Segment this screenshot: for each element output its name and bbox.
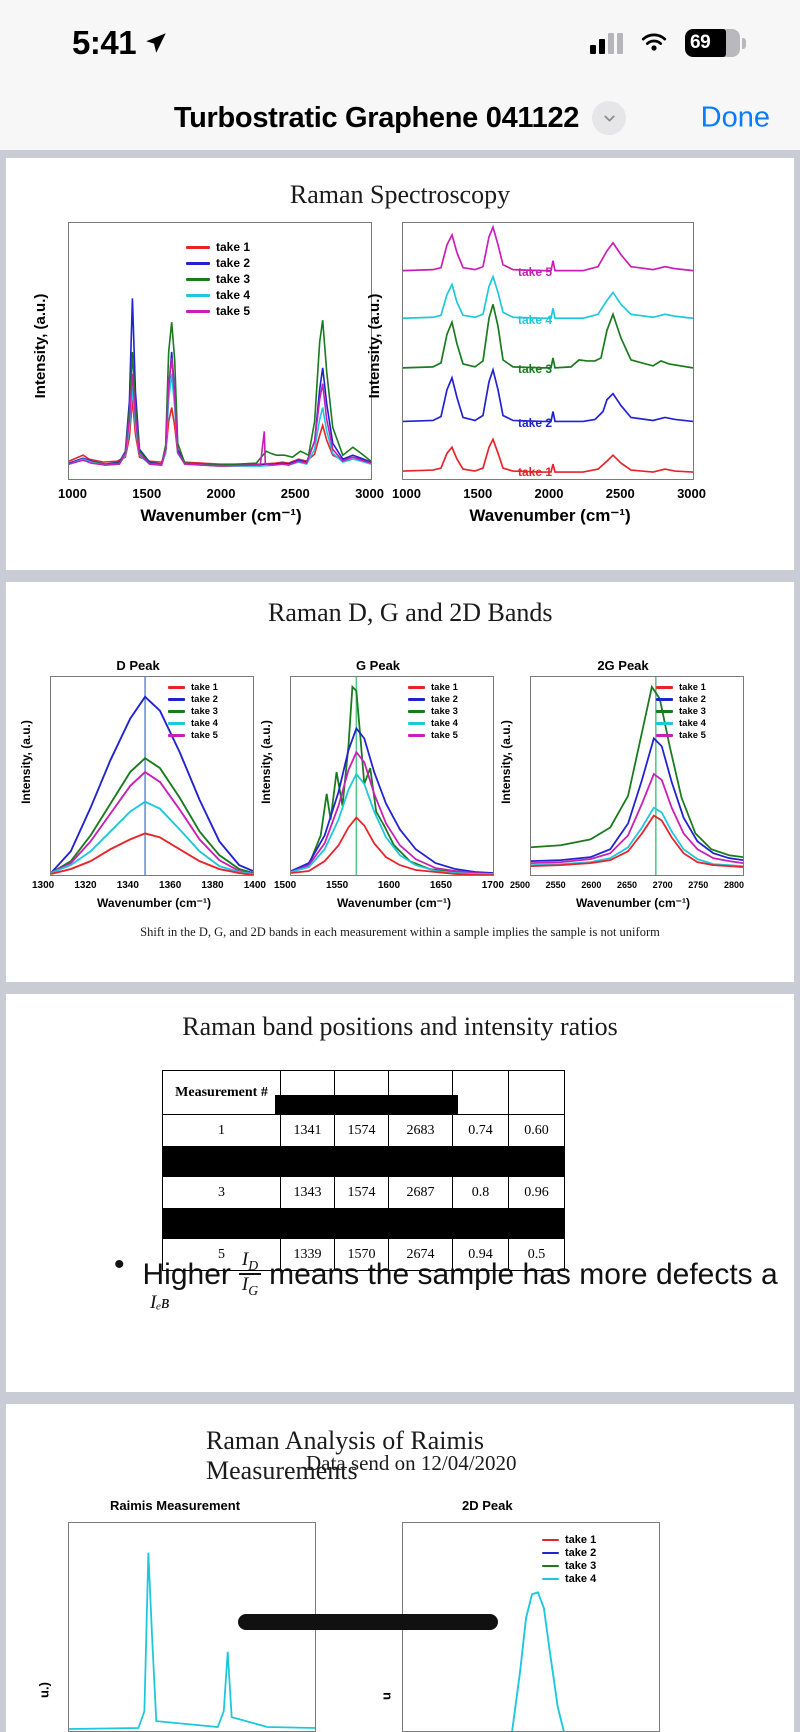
chart-xticks: 2500 2550 2600 2650 2700 2750 2800 xyxy=(510,880,744,890)
chart-ylabel: u.) xyxy=(36,1682,51,1698)
legend-label: take 3 xyxy=(191,706,218,717)
xtick: 2650 xyxy=(617,880,637,890)
wifi-icon xyxy=(639,32,669,54)
legend-item: take 3 xyxy=(186,272,250,286)
legend-label: take 2 xyxy=(431,694,458,705)
plot-area xyxy=(530,676,744,876)
legend-label: take 4 xyxy=(679,718,706,729)
chart-title: 2D Peak xyxy=(462,1498,513,1513)
legend-item: take 2 xyxy=(408,694,458,705)
legend-label: take 1 xyxy=(565,1534,596,1546)
xtick: 2500 xyxy=(606,486,635,501)
legend-label: take 4 xyxy=(431,718,458,729)
bullet-prefix: Higher xyxy=(143,1258,231,1291)
legend-swatch-take1 xyxy=(408,686,425,688)
chart-ylabel: Intensity, (a.u.) xyxy=(499,720,513,804)
legend-label: take 3 xyxy=(216,272,250,286)
legend-item: take 3 xyxy=(542,1560,596,1572)
cell-id-ig: 0.74 xyxy=(453,1115,509,1147)
legend-item: take 1 xyxy=(542,1534,596,1546)
status-bar: 5:41 69 xyxy=(0,0,800,86)
chart-ylabel: Intensity, (a.u.) xyxy=(366,294,383,399)
legend-swatch-take5 xyxy=(408,734,425,736)
col-id-ig xyxy=(453,1071,509,1115)
legend-item: take 2 xyxy=(186,256,250,270)
xtick: 2000 xyxy=(207,486,236,501)
xtick: 1300 xyxy=(32,880,54,891)
chart-xlabel: Wavenumber (cm⁻¹) xyxy=(34,896,274,910)
xtick: 1380 xyxy=(201,880,223,891)
bullet-dot-icon: • xyxy=(114,1250,125,1280)
legend-swatch-take2 xyxy=(656,698,673,700)
document-title: Turbostratic Graphene 041122 xyxy=(174,102,579,135)
nav-title-group[interactable]: Turbostratic Graphene 041122 xyxy=(174,101,626,135)
legend-label: take 2 xyxy=(216,256,250,270)
bullet-clipped-fraction: Iₑʙ xyxy=(150,1292,169,1314)
xtick: 1500 xyxy=(463,486,492,501)
col-2d-band xyxy=(389,1071,453,1115)
legend-swatch-take4 xyxy=(542,1578,559,1580)
fraction-denominator: IG xyxy=(239,1273,261,1298)
table-row[interactable]: 3 1343 1574 2687 0.8 0.96 xyxy=(163,1177,565,1209)
xtick: 2000 xyxy=(535,486,564,501)
chart-ylabel: Intensity, (a.u.) xyxy=(32,294,49,399)
slide4-subtitle: Data send on 12/04/2020 xyxy=(306,1451,517,1476)
legend-label: take 3 xyxy=(431,706,458,717)
fraction-numerator: ID xyxy=(239,1250,261,1273)
col-g-band xyxy=(335,1071,389,1115)
xtick: 1000 xyxy=(58,486,87,501)
xtick: 1360 xyxy=(159,880,181,891)
table-row-redacted[interactable] xyxy=(163,1147,565,1177)
redaction-bar xyxy=(238,1614,498,1630)
chart-xticks: 1500 1550 1600 1650 1700 xyxy=(274,880,504,891)
legend-item: take 5 xyxy=(186,304,250,318)
document-scroll-area[interactable]: Raman Spectroscopy Intensity, (a.u.) xyxy=(0,150,800,1732)
legend-swatch-take3 xyxy=(542,1565,559,1567)
spectrum-label-take5: take 5 xyxy=(518,265,552,279)
legend-swatch-take1 xyxy=(186,246,210,249)
plot-area xyxy=(50,676,254,876)
status-indicators: 69 xyxy=(590,29,746,57)
status-time: 5:41 xyxy=(72,24,136,62)
legend-label: take 2 xyxy=(679,694,706,705)
table-body: 1 1341 1574 2683 0.74 0.60 3 1343 1574 xyxy=(163,1115,565,1271)
legend-swatch-take4 xyxy=(168,722,185,724)
ratio-fraction: ID IG xyxy=(239,1250,261,1298)
chart-raman-overlay[interactable]: Intensity, (a.u.) take 1 xyxy=(26,218,376,518)
chart-2g-peak[interactable]: 2G Peak Intensity, (a.u.) xyxy=(498,662,748,912)
slide-dg2d-bands[interactable]: Raman D, G and 2D Bands D Peak Intensity… xyxy=(6,582,794,982)
legend-item: take 3 xyxy=(408,706,458,717)
legend-item: take 4 xyxy=(656,718,706,729)
battery-icon: 69 xyxy=(685,29,746,57)
chart-title: Raimis Measurement xyxy=(110,1498,240,1513)
done-button[interactable]: Done xyxy=(701,102,770,135)
legend-swatch-take2 xyxy=(408,698,425,700)
phone-screen: 5:41 69 Turbost xyxy=(0,0,800,1732)
legend-item: take 5 xyxy=(408,730,458,741)
spectrum-label-take4: take 4 xyxy=(518,313,552,327)
xtick: 1600 xyxy=(378,880,400,891)
status-time-group: 5:41 xyxy=(72,24,169,62)
legend-swatch-take2 xyxy=(542,1552,559,1554)
xtick: 2500 xyxy=(281,486,310,501)
cell-2d: 2683 xyxy=(389,1115,453,1147)
cell-i2d-ig: 0.60 xyxy=(509,1115,565,1147)
legend-swatch-take1 xyxy=(542,1539,559,1541)
legend-label: take 5 xyxy=(679,730,706,741)
legend-item: take 1 xyxy=(168,682,218,693)
legend-label: take 3 xyxy=(565,1560,596,1572)
legend-item: take 1 xyxy=(186,240,250,254)
spectrum-label-take2: take 2 xyxy=(518,416,552,430)
cell-measurement: 1 xyxy=(163,1115,281,1147)
legend-item: take 3 xyxy=(168,706,218,717)
xtick: 1500 xyxy=(274,880,296,891)
cell-d: 1341 xyxy=(281,1115,335,1147)
xtick: 1650 xyxy=(430,880,452,891)
chart-title: G Peak xyxy=(258,658,498,673)
table-row-redacted[interactable] xyxy=(163,1209,565,1239)
chart-xlabel: Wavenumber (cm⁻¹) xyxy=(508,896,758,910)
chart-raman-stacked[interactable]: Intensity, (a.u.) xyxy=(358,218,698,518)
legend-swatch-take5 xyxy=(168,734,185,736)
cell-i2d-ig: 0.96 xyxy=(509,1177,565,1209)
cell-id-ig: 0.8 xyxy=(453,1177,509,1209)
chart-ylabel: Intensity, (a.u.) xyxy=(19,720,33,804)
legend-swatch-take3 xyxy=(408,710,425,712)
legend-label: take 3 xyxy=(679,706,706,717)
table-header-row: Measurement # xyxy=(163,1071,565,1115)
legend-swatch-take3 xyxy=(656,710,673,712)
plot-area xyxy=(290,676,494,876)
legend-item: take 2 xyxy=(656,694,706,705)
chart-legend: take 1 take 2 take 3 take 4 take 5 xyxy=(408,682,458,741)
slide-band-positions[interactable]: Raman band positions and intensity ratio… xyxy=(6,994,794,1392)
xtick: 3000 xyxy=(677,486,706,501)
plot-area xyxy=(402,222,694,480)
chart-d-peak[interactable]: D Peak Intensity, (a.u.) xyxy=(18,662,258,912)
legend-swatch-take4 xyxy=(186,294,210,297)
slide2-title: Raman D, G and 2D Bands xyxy=(268,598,568,628)
cell-2d: 2687 xyxy=(389,1177,453,1209)
battery-percent: 69 xyxy=(685,29,740,57)
legend-item: take 4 xyxy=(186,288,250,302)
legend-label: take 5 xyxy=(431,730,458,741)
xtick: 1000 xyxy=(392,486,421,501)
legend-item: take 5 xyxy=(656,730,706,741)
xtick: 1320 xyxy=(74,880,96,891)
chart-title: D Peak xyxy=(18,658,258,673)
legend-swatch-take3 xyxy=(168,710,185,712)
xtick: 2700 xyxy=(653,880,673,890)
legend-swatch-take1 xyxy=(656,686,673,688)
xtick: 2750 xyxy=(688,880,708,890)
spectrum-label-take3: take 3 xyxy=(518,362,552,376)
chart-legend: take 1 take 2 take 3 take 4 take 5 xyxy=(186,240,250,318)
xtick: 1550 xyxy=(326,880,348,891)
chart-ylabel: u xyxy=(378,1692,393,1700)
cell-g: 1574 xyxy=(335,1115,389,1147)
legend-label: take 1 xyxy=(679,682,706,693)
xtick: 2500 xyxy=(510,880,530,890)
legend-label: take 1 xyxy=(216,240,250,254)
cell-d: 1343 xyxy=(281,1177,335,1209)
legend-item: take 3 xyxy=(656,706,706,717)
col-i2d-ig xyxy=(509,1071,565,1115)
navigation-bar: Turbostratic Graphene 041122 Done xyxy=(0,86,800,150)
legend-swatch-take5 xyxy=(656,734,673,736)
slide-raman-spectroscopy[interactable]: Raman Spectroscopy Intensity, (a.u.) xyxy=(6,158,794,570)
legend-label: take 2 xyxy=(191,694,218,705)
legend-item: take 1 xyxy=(656,682,706,693)
chart-title: 2G Peak xyxy=(498,658,748,673)
table-row[interactable]: 1 1341 1574 2683 0.74 0.60 xyxy=(163,1115,565,1147)
xtick: 2600 xyxy=(581,880,601,890)
location-arrow-icon xyxy=(143,30,169,56)
legend-label: take 2 xyxy=(565,1547,596,1559)
legend-swatch-take1 xyxy=(168,686,185,688)
cell-redacted xyxy=(163,1147,565,1177)
legend-item: take 4 xyxy=(542,1573,596,1585)
chart-xticks: 1300 1320 1340 1360 1380 1400 xyxy=(32,880,266,891)
cellular-signal-icon xyxy=(590,32,623,54)
chart-legend: take 1 take 2 take 3 take 4 take 5 xyxy=(168,682,218,741)
xtick: 2800 xyxy=(724,880,744,890)
legend-item: take 1 xyxy=(408,682,458,693)
xtick: 2550 xyxy=(546,880,566,890)
cell-redacted xyxy=(163,1209,565,1239)
legend-item: take 4 xyxy=(408,718,458,729)
bullet-text: Higher ID IG means the sample has more d… xyxy=(143,1250,778,1298)
legend-item: take 5 xyxy=(168,730,218,741)
legend-item: take 2 xyxy=(168,694,218,705)
legend-swatch-take2 xyxy=(186,262,210,265)
legend-swatch-take3 xyxy=(186,278,210,281)
legend-label: take 1 xyxy=(431,682,458,693)
chart-xticks: 1000 1500 2000 2500 3000 xyxy=(58,486,384,501)
chart-g-peak[interactable]: G Peak Intensity, (a.u.) xyxy=(258,662,498,912)
bullet-suffix: means the sample has more defects a xyxy=(269,1258,778,1291)
legend-swatch-take4 xyxy=(408,722,425,724)
slide-raimis-analysis[interactable]: Raman Analysis of Raimis Measurements Da… xyxy=(6,1404,794,1732)
legend-label: take 5 xyxy=(216,304,250,318)
chart-ylabel: Intensity, (a.u.) xyxy=(259,720,273,804)
xtick: 1340 xyxy=(117,880,139,891)
legend-label: take 4 xyxy=(565,1573,596,1585)
chart-xlabel: Wavenumber (cm⁻¹) xyxy=(380,506,720,526)
legend-label: take 5 xyxy=(191,730,218,741)
legend-label: take 1 xyxy=(191,682,218,693)
chart-legend: take 1 take 2 take 3 take 4 take 5 xyxy=(656,682,706,741)
chevron-down-icon[interactable] xyxy=(592,101,626,135)
legend-label: take 4 xyxy=(191,718,218,729)
legend-swatch-take2 xyxy=(168,698,185,700)
legend-swatch-take4 xyxy=(656,722,673,724)
slide1-title: Raman Spectroscopy xyxy=(6,180,794,210)
chart-xlabel: Wavenumber (cm⁻¹) xyxy=(46,506,396,526)
cell-measurement: 3 xyxy=(163,1177,281,1209)
slide2-caption: Shift in the D, G, and 2D bands in each … xyxy=(6,925,794,940)
legend-item: take 2 xyxy=(542,1547,596,1559)
chart-legend: take 1 take 2 take 3 take 4 xyxy=(542,1534,596,1585)
bullet-point: • Higher ID IG means the sample has more… xyxy=(114,1250,794,1298)
col-d-band xyxy=(281,1071,335,1115)
legend-label: take 4 xyxy=(216,288,250,302)
chart-xticks: 1000 1500 2000 2500 3000 xyxy=(392,486,706,501)
slide3-title: Raman band positions and intensity ratio… xyxy=(6,1012,794,1042)
col-measurement: Measurement # xyxy=(163,1071,281,1115)
xtick: 1500 xyxy=(132,486,161,501)
spectrum-label-take1: take 1 xyxy=(518,465,552,479)
chart-xlabel: Wavenumber (cm⁻¹) xyxy=(274,896,514,910)
legend-item: take 4 xyxy=(168,718,218,729)
cell-g: 1574 xyxy=(335,1177,389,1209)
raman-table[interactable]: Measurement # xyxy=(162,1070,565,1271)
legend-swatch-take5 xyxy=(186,310,210,313)
